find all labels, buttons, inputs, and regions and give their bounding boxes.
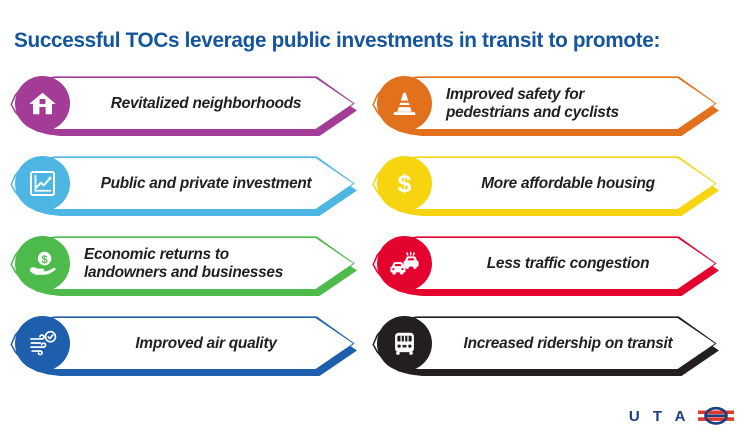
benefit-banner-public-private-investment[interactable]: Public and private investment [12, 158, 357, 216]
benefit-banner-less-traffic-congestion[interactable]: Less traffic congestion [374, 238, 719, 296]
benefit-label-line: Less traffic congestion [487, 255, 649, 273]
benefit-label-line: Increased ridership on transit [464, 335, 673, 353]
benefit-label-line: Public and private investment [101, 175, 312, 193]
benefit-banner-affordable-housing[interactable]: $ More affordable housing [374, 158, 719, 216]
benefit-label-line: Improved safety for [446, 86, 584, 104]
traffic-cone-icon [377, 76, 432, 131]
infographic-page: Successful TOCs leverage public investme… [0, 0, 750, 440]
benefit-label-line: Economic returns to [84, 246, 229, 264]
benefit-label: Less traffic congestion [442, 238, 694, 289]
house-icon [15, 76, 70, 131]
svg-text:$: $ [41, 254, 48, 266]
benefit-banner-revitalized-neighborhoods[interactable]: Revitalized neighborhoods [12, 78, 357, 136]
bus-icon [377, 316, 432, 371]
benefit-banner-improved-safety[interactable]: Improved safety forpedestrians and cycli… [374, 78, 719, 136]
benefit-label-line: Revitalized neighborhoods [111, 95, 301, 113]
air-quality-icon [15, 316, 70, 371]
uta-logo: U T A [629, 404, 736, 428]
uta-logo-letters: U T A [629, 409, 690, 424]
benefit-banner-increased-ridership[interactable]: Increased ridership on transit [374, 318, 719, 376]
benefit-label: Improved air quality [80, 318, 332, 369]
line-chart-icon [15, 156, 70, 211]
benefit-label: Economic returns tolandowners and busine… [84, 238, 332, 289]
benefits-grid: Revitalized neighborhoods Improved safet… [0, 78, 750, 398]
hand-money-icon: $ [15, 236, 70, 291]
dollar-coin-icon: $ [377, 156, 432, 211]
benefit-label-line: landowners and businesses [84, 264, 283, 282]
traffic-cars-icon [377, 236, 432, 291]
benefit-label: Increased ridership on transit [442, 318, 694, 369]
benefit-label: Improved safety forpedestrians and cycli… [446, 78, 694, 129]
benefit-banner-improved-air-quality[interactable]: Improved air quality [12, 318, 357, 376]
benefit-label: More affordable housing [442, 158, 694, 209]
benefit-label: Public and private investment [80, 158, 332, 209]
uta-logo-mark [696, 404, 736, 428]
benefit-label-line: More affordable housing [481, 175, 655, 193]
benefit-label: Revitalized neighborhoods [80, 78, 332, 129]
benefit-banner-economic-returns[interactable]: $ Economic returns tolandowners and busi… [12, 238, 357, 296]
benefit-label-line: pedestrians and cyclists [446, 104, 619, 122]
page-title: Successful TOCs leverage public investme… [14, 28, 709, 53]
benefit-label-line: Improved air quality [135, 335, 276, 353]
svg-text:$: $ [398, 171, 412, 198]
